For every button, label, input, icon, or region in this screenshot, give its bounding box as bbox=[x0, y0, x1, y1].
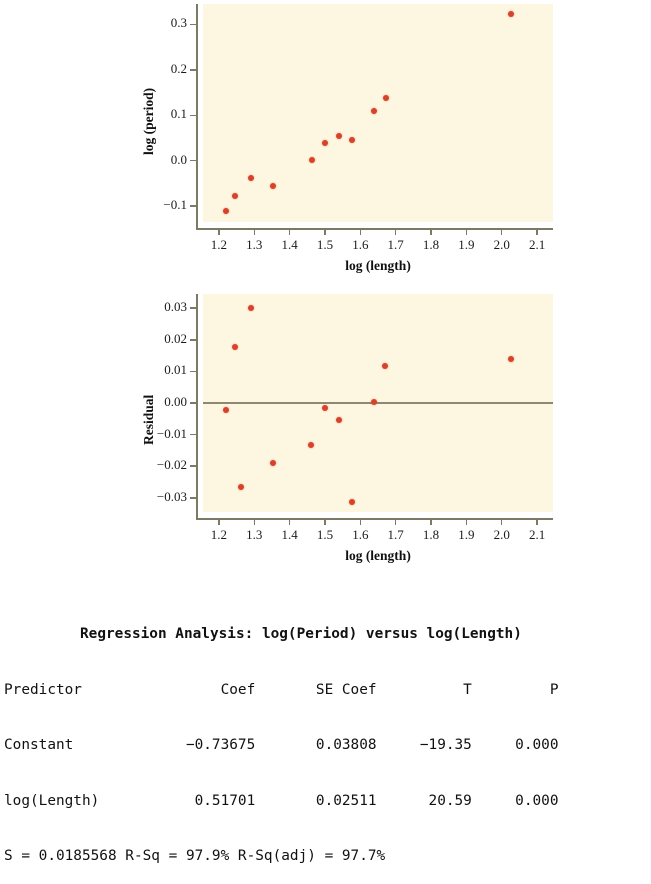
y-tick-label: −0.03 bbox=[125, 489, 187, 505]
x-tick-label: 1.2 bbox=[199, 527, 239, 543]
x-tick-mark bbox=[289, 519, 291, 525]
scatter-plot-area bbox=[203, 4, 553, 222]
x-tick-mark bbox=[360, 229, 362, 235]
x-tick-label: 1.3 bbox=[234, 237, 274, 253]
data-point bbox=[223, 407, 229, 413]
y-tick-mark bbox=[190, 339, 197, 341]
y-tick-mark bbox=[190, 434, 197, 436]
residual-x-axis-title: log (length) bbox=[330, 548, 426, 564]
x-tick-label: 1.2 bbox=[199, 237, 239, 253]
y-tick-mark bbox=[190, 115, 197, 117]
x-tick-mark bbox=[536, 229, 538, 235]
x-tick-mark bbox=[218, 519, 220, 525]
data-point bbox=[309, 157, 315, 163]
y-tick-mark bbox=[190, 497, 197, 499]
data-point bbox=[371, 108, 377, 114]
x-tick-mark bbox=[501, 229, 503, 235]
x-tick-mark bbox=[218, 229, 220, 235]
x-tick-mark bbox=[536, 519, 538, 525]
x-tick-label: 1.6 bbox=[340, 237, 380, 253]
x-tick-mark bbox=[324, 519, 326, 525]
scatter-x-axis-line bbox=[196, 228, 553, 230]
scatter-y-axis-line bbox=[196, 4, 198, 229]
x-tick-mark bbox=[466, 229, 468, 235]
x-tick-label: 1.7 bbox=[376, 237, 416, 253]
regression-output-panel: Regression Analysis: log(Period) versus … bbox=[4, 588, 651, 884]
x-tick-label: 1.5 bbox=[305, 237, 345, 253]
residual-zero-reference-line bbox=[203, 402, 553, 404]
y-tick-label: −0.1 bbox=[125, 197, 187, 213]
data-point bbox=[336, 133, 342, 139]
y-tick-mark bbox=[190, 307, 197, 309]
scatter-y-axis-title: log (period) bbox=[141, 88, 157, 155]
data-point bbox=[508, 11, 514, 17]
y-tick-mark bbox=[190, 465, 197, 467]
y-tick-label: 0.02 bbox=[125, 331, 187, 347]
x-tick-label: 1.8 bbox=[411, 527, 451, 543]
residual-y-axis-line bbox=[196, 294, 198, 519]
x-tick-mark bbox=[466, 519, 468, 525]
x-tick-mark bbox=[254, 229, 256, 235]
x-tick-label: 1.5 bbox=[305, 527, 345, 543]
regression-output-row-constant: Constant −0.73675 0.03808 −19.35 0.000 bbox=[4, 736, 651, 755]
residual-x-axis-line bbox=[196, 518, 553, 520]
x-tick-label: 1.6 bbox=[340, 527, 380, 543]
data-point bbox=[349, 499, 355, 505]
x-tick-mark bbox=[360, 519, 362, 525]
x-tick-mark bbox=[501, 519, 503, 525]
regression-output-title: Regression Analysis: log(Period) versus … bbox=[4, 625, 651, 644]
y-tick-label: −0.02 bbox=[125, 457, 187, 473]
y-tick-label: 0.2 bbox=[125, 61, 187, 77]
y-tick-mark bbox=[190, 160, 197, 162]
x-tick-label: 2.1 bbox=[517, 527, 557, 543]
x-tick-label: 1.7 bbox=[376, 527, 416, 543]
x-tick-label: 2.0 bbox=[482, 527, 522, 543]
regression-output-row-log-length: log(Length) 0.51701 0.02511 20.59 0.000 bbox=[4, 792, 651, 811]
y-tick-mark bbox=[190, 205, 197, 207]
y-tick-mark bbox=[190, 69, 197, 71]
y-tick-mark bbox=[190, 24, 197, 26]
data-point bbox=[223, 208, 229, 214]
x-tick-label: 2.0 bbox=[482, 237, 522, 253]
data-point bbox=[238, 484, 244, 490]
x-tick-label: 2.1 bbox=[517, 237, 557, 253]
x-tick-mark bbox=[395, 519, 397, 525]
x-tick-label: 1.9 bbox=[446, 527, 486, 543]
x-tick-label: 1.8 bbox=[411, 237, 451, 253]
data-point bbox=[270, 460, 276, 466]
residual-y-axis-title: Residual bbox=[141, 395, 157, 445]
y-tick-label: 0.03 bbox=[125, 299, 187, 315]
y-tick-mark bbox=[190, 371, 197, 373]
x-tick-mark bbox=[430, 519, 432, 525]
x-tick-mark bbox=[289, 229, 291, 235]
data-point bbox=[349, 137, 355, 143]
y-tick-mark bbox=[190, 402, 197, 404]
regression-output-summary: S = 0.0185568 R-Sq = 97.9% R-Sq(adj) = 9… bbox=[4, 847, 651, 866]
regression-output-header-row: Predictor Coef SE Coef T P bbox=[4, 681, 651, 700]
x-tick-mark bbox=[430, 229, 432, 235]
x-tick-label: 1.9 bbox=[446, 237, 486, 253]
x-tick-label: 1.4 bbox=[270, 527, 310, 543]
x-tick-label: 1.4 bbox=[270, 237, 310, 253]
x-tick-label: 1.3 bbox=[234, 527, 274, 543]
scatter-x-axis-title: log (length) bbox=[330, 258, 426, 274]
x-tick-mark bbox=[395, 229, 397, 235]
x-tick-mark bbox=[324, 229, 326, 235]
y-tick-label: 0.01 bbox=[125, 362, 187, 378]
y-tick-label: 0.3 bbox=[125, 15, 187, 31]
data-point bbox=[232, 193, 238, 199]
x-tick-mark bbox=[254, 519, 256, 525]
